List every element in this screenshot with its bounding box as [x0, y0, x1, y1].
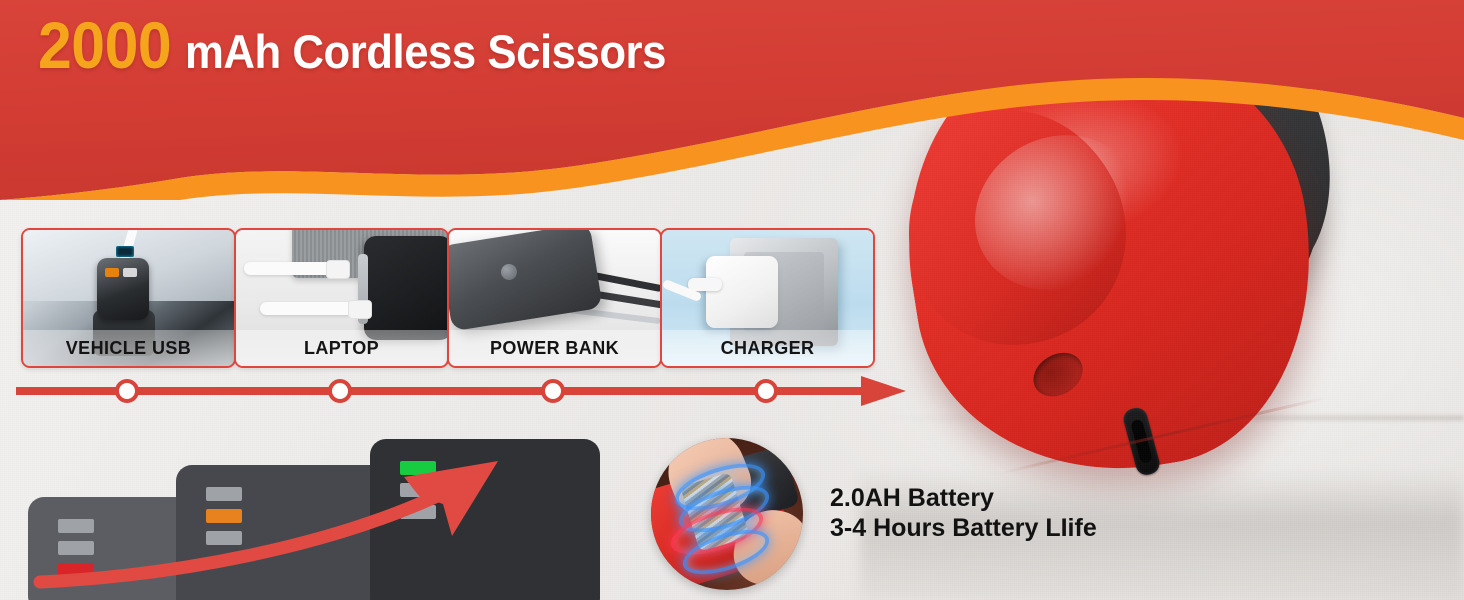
source-card-label: POWER BANK: [449, 330, 660, 366]
battery-level-progression: [0, 430, 620, 600]
timeline-arrow: [16, 374, 916, 408]
battery-claim-line-1: 2.0AH Battery: [830, 484, 1230, 514]
source-card-charger[interactable]: CHARGER: [660, 228, 875, 368]
source-card-label: VEHICLE USB: [23, 330, 234, 366]
page-title: 2000mAh Cordless Scissors: [38, 12, 702, 78]
battery-claim-line-2: 3-4 Hours Battery LIife: [830, 514, 1230, 544]
product-infographic: 2000mAh Cordless Scissors VEHICLE USB LA…: [0, 0, 1464, 600]
timeline-marker: [330, 381, 350, 401]
source-card-vehicle-usb[interactable]: VEHICLE USB: [21, 228, 236, 368]
timeline-svg: [16, 374, 916, 408]
right-arrow-icon: [861, 376, 906, 406]
capacity-value: 2000: [38, 12, 171, 78]
timeline-marker: [756, 381, 776, 401]
source-card-power-bank[interactable]: POWER BANK: [447, 228, 662, 368]
product-seam-line: [1003, 397, 1325, 474]
source-card-laptop[interactable]: LAPTOP: [234, 228, 449, 368]
source-card-label: CHARGER: [662, 330, 873, 366]
lanyard-hole-icon: [1025, 344, 1090, 405]
battery-inset-photo: [651, 438, 803, 590]
source-card-label: LAPTOP: [236, 330, 447, 366]
timeline-marker: [543, 381, 563, 401]
timeline-marker: [117, 381, 137, 401]
charging-source-cards: VEHICLE USB LAPTOP POWER BANK CHARGER: [21, 228, 871, 364]
title-text: mAh Cordless Scissors: [185, 28, 666, 75]
battery-claim-text: 2.0AH Battery 3-4 Hours Battery LIife: [830, 484, 1230, 543]
header-banner: 2000mAh Cordless Scissors: [0, 0, 1464, 200]
growth-arrow-icon: [0, 430, 620, 600]
